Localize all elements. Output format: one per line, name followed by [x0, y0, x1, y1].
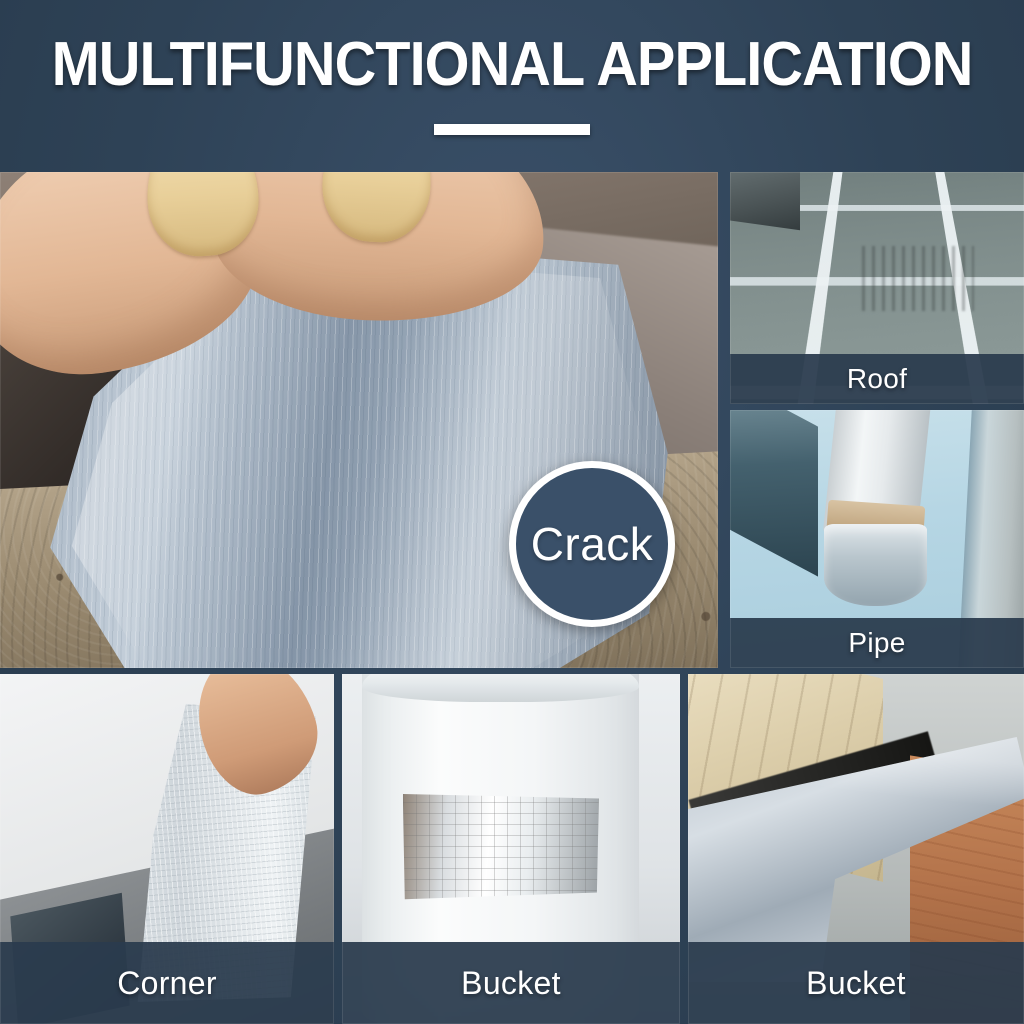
panel-roof[interactable]: Roof — [730, 172, 1024, 404]
panel-bucket-2[interactable]: Bucket — [688, 674, 1024, 1024]
label-roof: Roof — [730, 354, 1024, 404]
bucket-foil-tape-patch — [403, 790, 599, 902]
roof-vent-box — [730, 172, 801, 231]
panel-bucket[interactable]: Bucket — [342, 674, 680, 1024]
label-corner: Corner — [0, 942, 334, 1024]
application-grid: Roof Pipe Corne — [0, 172, 1024, 1024]
product-infographic: MULTIFUNCTIONAL APPLICATION — [0, 0, 1024, 1024]
label-pipe: Pipe — [730, 618, 1024, 668]
crack-badge[interactable]: Crack — [509, 461, 675, 627]
title-divider-bar — [434, 124, 590, 135]
crack-badge-label: Crack — [531, 517, 654, 571]
bucket-rim — [362, 674, 639, 702]
roof-glass-reflection — [862, 246, 974, 311]
panel-corner[interactable]: Corner — [0, 674, 334, 1024]
pipe-foil-tape-collar — [824, 524, 927, 607]
page-title: MULTIFUNCTIONAL APPLICATION — [52, 34, 973, 96]
label-bucket: Bucket — [342, 942, 680, 1024]
panel-pipe[interactable]: Pipe — [730, 410, 1024, 668]
label-bucket-2: Bucket — [688, 942, 1024, 1024]
header-banner: MULTIFUNCTIONAL APPLICATION — [0, 0, 1024, 172]
